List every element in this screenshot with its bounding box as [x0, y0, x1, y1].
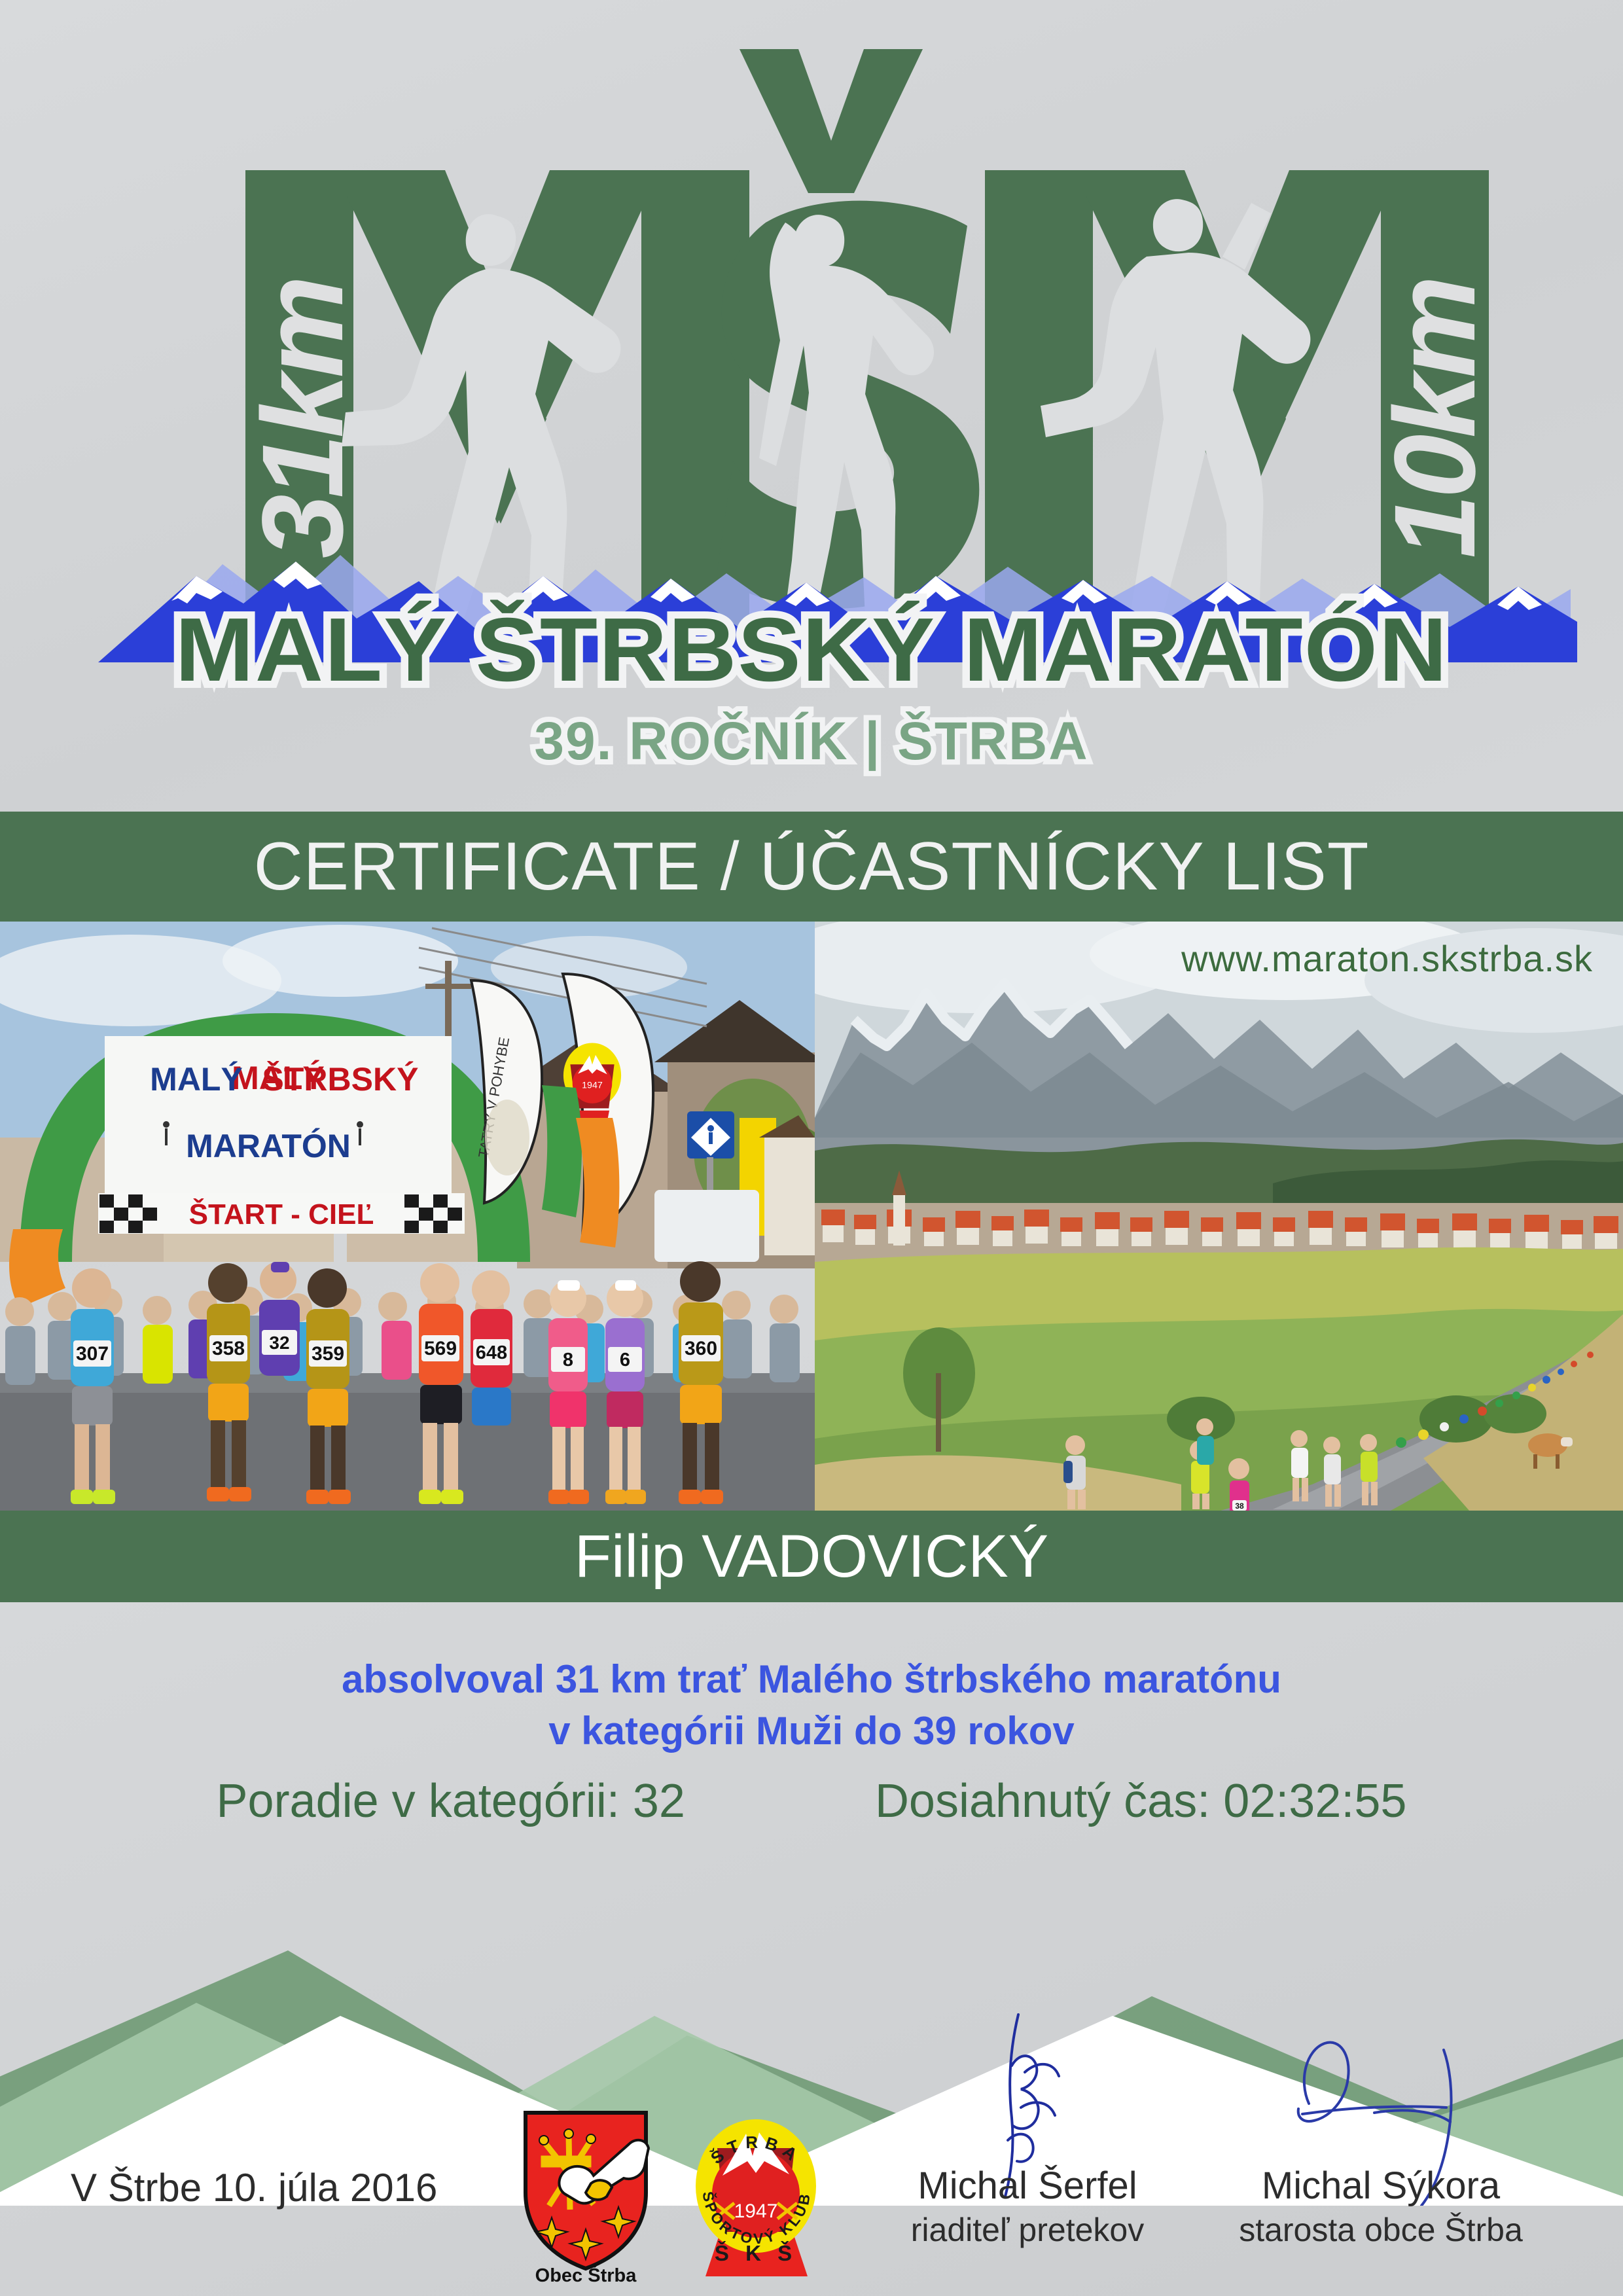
svg-text:648: 648: [476, 1342, 507, 1363]
svg-text:ŠTRBSKÝ: ŠTRBSKÝ: [262, 1060, 419, 1098]
svg-text:8: 8: [563, 1350, 573, 1371]
sks-year: 1947: [734, 2200, 778, 2222]
certificate-title: CERTIFICATE / ÚČASTNÍCKY LIST: [254, 833, 1370, 901]
result-details: absolvoval 31 km trať Malého štrbského m…: [0, 1602, 1623, 1910]
certificate-page: 31km 10km: [0, 0, 1623, 2296]
spectator-teal: [1196, 1418, 1214, 1465]
certificate-title-band: CERTIFICATE / ÚČASTNÍCKY LIST: [0, 812, 1623, 922]
svg-text:360: 360: [685, 1338, 717, 1359]
photo-strip: MALÝ MALÝ ŠTRBSKÝ MARATÓN: [0, 922, 1623, 1511]
description-line-1: absolvoval 31 km trať Malého štrbského m…: [0, 1653, 1623, 1705]
runner-foreground-pink: 38: [1228, 1458, 1249, 1511]
svg-text:1947: 1947: [582, 1080, 603, 1090]
svg-text:358: 358: [212, 1338, 245, 1359]
runner-bib-648: 648: [471, 1270, 512, 1426]
svg-text:32: 32: [269, 1333, 289, 1353]
sks-bottom-text: Š K Š: [715, 2240, 797, 2265]
svg-text:6: 6: [620, 1350, 630, 1371]
msm-logo: 31km 10km: [0, 0, 1623, 795]
category-rank: Poradie v kategórii: 32: [217, 1778, 685, 1825]
svg-text:569: 569: [424, 1338, 457, 1359]
finish-time: Dosiahnutý čas: 02:32:55: [875, 1778, 1407, 1825]
svg-text:38: 38: [1235, 1501, 1244, 1511]
athlete-name: Filip VADOVICKÝ: [575, 1526, 1048, 1587]
footer: V Štrbe 10. júla 2016: [0, 2101, 1623, 2296]
signature-block-mayor: Michal Sýkora starosta obce Štrba: [1198, 2101, 1564, 2296]
photo-course-landscape: 38: [815, 922, 1623, 1511]
svg-text:MARATÓN: MARATÓN: [186, 1128, 351, 1164]
result-row: Poradie v kategórii: 32 Dosiahnutý čas: …: [0, 1778, 1623, 1825]
description-line-2: v kategórii Muži do 39 rokov: [0, 1705, 1623, 1757]
obec-strba-crest: Obec Štrba: [514, 2108, 658, 2284]
header-logo-area: 31km 10km: [0, 0, 1623, 795]
sks-club-logo: 1947 ŠTRBA ŠPORTOVÝ KLUB Š K Š: [686, 2108, 827, 2283]
svg-text:307: 307: [76, 1343, 109, 1365]
crest-caption: Obec Štrba: [535, 2264, 637, 2284]
signatory-name: Michal Sýkora: [1198, 2164, 1564, 2208]
signatory-name: Michal Šerfel: [844, 2164, 1211, 2208]
athlete-name-band: Filip VADOVICKÝ: [0, 1511, 1623, 1602]
photo-race-start: MALÝ MALÝ ŠTRBSKÝ MARATÓN: [0, 922, 815, 1511]
runner-bib-32: 32: [259, 1262, 300, 1376]
signatory-role: starosta obce Štrba: [1198, 2211, 1564, 2249]
website-url[interactable]: www.maraton.skstrba.sk: [1181, 937, 1593, 980]
svg-text:359: 359: [312, 1343, 344, 1365]
svg-text:ŠTART - CIEĽ: ŠTART - CIEĽ: [189, 1197, 374, 1230]
place-and-date: V Štrbe 10. júla 2016: [71, 2165, 437, 2210]
logo-distance-right: 10km: [1371, 279, 1499, 558]
achievement-description: absolvoval 31 km trať Malého štrbského m…: [0, 1653, 1623, 1757]
svg-text:10km: 10km: [1371, 279, 1499, 558]
svg-text:MALÝ: MALÝ: [150, 1061, 243, 1098]
signatory-role: riaditeľ pretekov: [844, 2211, 1211, 2249]
signature-block-director: Michal Šerfel riaditeľ pretekov: [844, 2101, 1211, 2296]
